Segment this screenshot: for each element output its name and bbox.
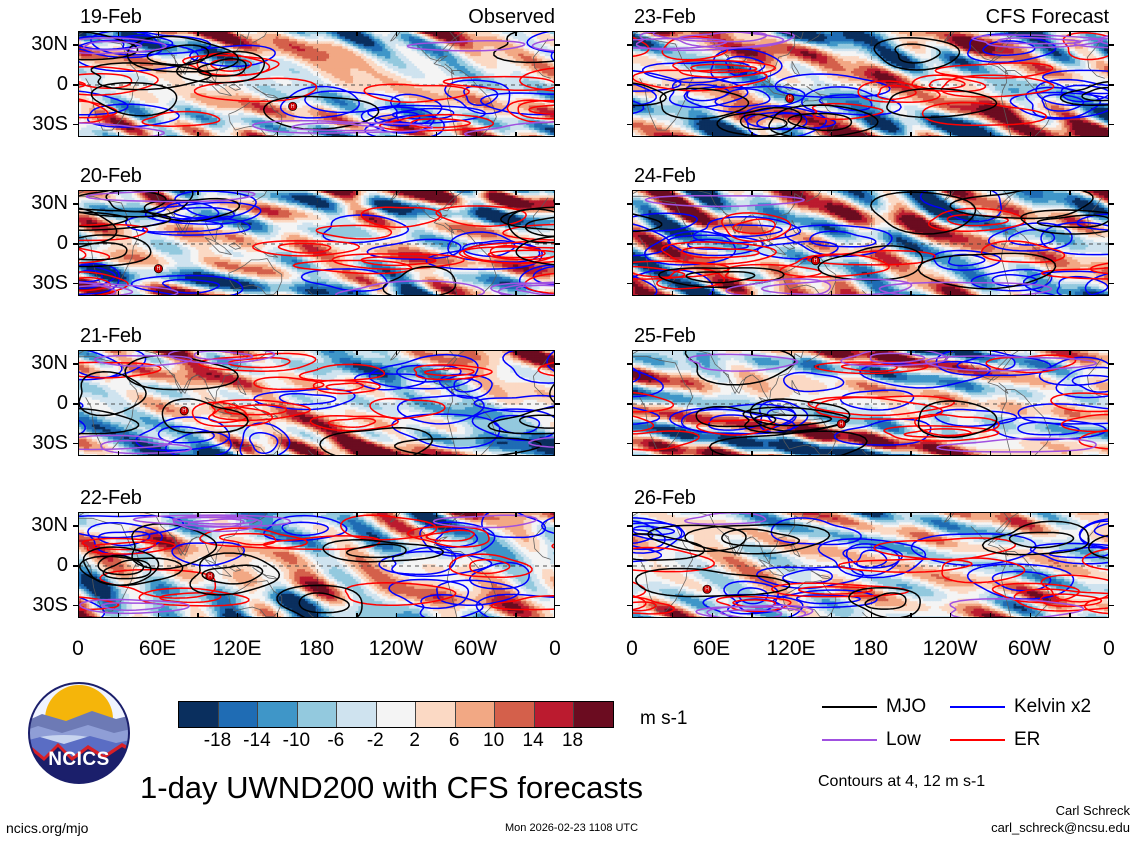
x-tick [672,613,673,618]
x-tick [871,291,872,296]
x-tick [1030,132,1031,137]
x-tick [751,451,752,456]
x-axis-label: 180 [277,638,357,659]
y-tick [627,124,633,126]
x-tick [871,512,872,517]
map-field-canvas [633,191,1109,296]
ncics-logo[interactable]: NCICS [18,681,140,785]
x-tick [515,350,516,355]
x-tick [476,613,477,618]
x-tick [476,512,477,517]
y-tick [73,605,79,607]
column-header-left: Observed [78,7,555,27]
y-axis-label: 30S [2,595,68,615]
x-tick [1069,132,1070,137]
y-tick [73,363,79,365]
y-tick [73,44,79,46]
x-tick [476,451,477,456]
x-tick [950,512,951,517]
x-axis-label: 60W [990,638,1070,659]
legend-label: Low [886,730,921,749]
map-field-canvas [79,32,555,137]
x-tick [1030,350,1031,355]
x-tick [277,451,278,456]
x-tick [791,451,792,456]
x-tick [277,613,278,618]
panel-date-label: 20-Feb [80,166,142,186]
x-tick [871,190,872,195]
x-tick [277,291,278,296]
x-tick [712,291,713,296]
x-tick [515,451,516,456]
x-tick [356,451,357,456]
x-tick [871,132,872,137]
x-axis-label: 180 [831,638,911,659]
x-tick [317,350,318,355]
x-tick [277,350,278,355]
x-tick [118,613,119,618]
x-tick [871,31,872,36]
x-tick [197,350,198,355]
x-tick [831,132,832,137]
x-tick [910,350,911,355]
x-tick [672,451,673,456]
x-tick [910,291,911,296]
map-field-canvas [79,191,555,296]
map-panel[interactable] [78,512,555,618]
y-axis-label: 30S [2,114,68,134]
x-tick [476,31,477,36]
y-tick [627,403,633,405]
x-tick [197,132,198,137]
x-tick [871,613,872,618]
column-header-right: CFS Forecast [632,7,1109,27]
x-tick [237,512,238,517]
x-tick [990,31,991,36]
colorbar-swatch [258,702,298,727]
x-tick [476,190,477,195]
x-tick [515,291,516,296]
y-tick [554,403,560,405]
legend-label: Kelvin x2 [1014,697,1091,716]
x-tick [910,451,911,456]
x-tick [791,132,792,137]
x-tick [672,350,673,355]
x-tick [751,512,752,517]
x-tick [950,613,951,618]
x-tick [712,613,713,618]
map-panel[interactable] [78,31,555,137]
x-tick [277,190,278,195]
x-tick [712,31,713,36]
y-axis-label: 0 [2,393,68,413]
panel-date-label: 24-Feb [634,166,696,186]
panel-date-label: 21-Feb [80,326,142,346]
x-tick [831,31,832,36]
x-tick [118,512,119,517]
y-tick [627,283,633,285]
y-tick [627,565,633,567]
x-tick [910,31,911,36]
x-tick [1069,190,1070,195]
y-tick [627,443,633,445]
panel-date-label: 26-Feb [634,488,696,508]
map-field-canvas [633,351,1109,456]
x-tick [831,350,832,355]
y-axis-label: 30S [2,273,68,293]
x-axis-label: 0 [515,638,595,659]
x-tick [1030,451,1031,456]
y-tick [73,565,79,567]
x-tick [672,31,673,36]
map-panel[interactable] [632,190,1109,296]
x-tick [831,512,832,517]
x-tick [1030,190,1031,195]
x-tick [672,190,673,195]
y-tick [554,525,560,527]
x-axis-label: 60E [672,638,752,659]
y-tick [554,283,560,285]
y-axis-label: 30N [2,353,68,373]
colorbar-swatches[interactable] [178,701,614,728]
map-panel[interactable] [632,350,1109,456]
y-tick [554,44,560,46]
x-tick [672,291,673,296]
y-tick [1108,403,1114,405]
x-tick [197,512,198,517]
x-tick [197,291,198,296]
x-axis-label: 60W [436,638,516,659]
x-tick [118,190,119,195]
x-axis-label: 0 [592,638,672,659]
y-axis-label: 0 [2,555,68,575]
site-link[interactable]: ncics.org/mjo [6,821,88,835]
x-tick [791,350,792,355]
y-tick [554,203,560,205]
x-tick [950,31,951,36]
x-tick [712,350,713,355]
x-tick [712,190,713,195]
x-tick [237,190,238,195]
x-axis-label: 120E [197,638,277,659]
x-tick [436,132,437,137]
colorbar-units-label: m s-1 [640,709,688,728]
x-tick [396,31,397,36]
x-tick [1069,451,1070,456]
x-tick [118,291,119,296]
x-tick [831,190,832,195]
x-tick [1030,512,1031,517]
y-tick [73,124,79,126]
x-tick [990,613,991,618]
x-tick [950,350,951,355]
y-tick [1108,124,1114,126]
x-tick [396,190,397,195]
x-tick [396,132,397,137]
x-tick [515,190,516,195]
x-tick [396,291,397,296]
x-tick [910,613,911,618]
colorbar-swatch [456,702,496,727]
x-tick [1069,291,1070,296]
y-tick [554,124,560,126]
x-tick [237,31,238,36]
x-tick [277,31,278,36]
x-tick [396,512,397,517]
x-tick [515,31,516,36]
legend-line-swatch [950,706,1005,708]
x-tick [158,190,159,195]
x-tick [396,451,397,456]
x-tick [436,613,437,618]
y-tick [73,243,79,245]
x-tick [118,132,119,137]
x-tick [1069,613,1070,618]
x-tick [237,350,238,355]
x-tick [751,291,752,296]
figure-title: 1-day UWND200 with CFS forecasts [140,772,643,803]
x-tick [317,512,318,517]
x-tick [990,190,991,195]
y-tick [627,44,633,46]
x-tick [237,291,238,296]
contour-note: Contours at 4, 12 m s-1 [818,774,985,790]
x-tick [1030,31,1031,36]
x-tick [277,132,278,137]
y-axis-label: 30N [2,515,68,535]
x-tick [791,190,792,195]
colorbar-swatch [535,702,575,727]
x-axis-label: 0 [38,638,118,659]
y-tick [554,605,560,607]
y-tick [73,203,79,205]
y-tick [554,84,560,86]
map-field-canvas [79,513,555,618]
x-tick [950,190,951,195]
map-panel[interactable] [632,31,1109,137]
x-axis-label: 0 [1069,638,1135,659]
legend-line-swatch [950,739,1005,741]
x-tick [871,451,872,456]
y-tick [627,84,633,86]
y-tick [73,525,79,527]
y-tick [73,443,79,445]
x-tick [751,190,752,195]
x-tick [950,451,951,456]
x-tick [436,31,437,36]
colorbar-swatch [179,702,219,727]
x-tick [672,512,673,517]
colorbar-tick-label: 18 [548,731,598,750]
panel-date-label: 25-Feb [634,326,696,346]
y-tick [627,605,633,607]
x-tick [1030,291,1031,296]
x-tick [950,132,951,137]
x-tick [118,31,119,36]
x-tick [712,512,713,517]
x-tick [436,291,437,296]
x-tick [396,350,397,355]
colorbar-swatch [574,702,613,727]
x-tick [1069,512,1070,517]
x-tick [712,451,713,456]
x-tick [751,350,752,355]
x-tick [356,350,357,355]
legend-line-swatch [822,739,877,741]
x-tick [1030,613,1031,618]
x-tick [950,291,951,296]
x-tick [436,512,437,517]
x-tick [158,451,159,456]
y-axis-label: 0 [2,233,68,253]
x-tick [317,31,318,36]
x-tick [118,350,119,355]
x-tick [791,613,792,618]
x-tick [476,350,477,355]
x-axis-label: 120W [356,638,436,659]
x-tick [990,132,991,137]
author-name: Carl Schreck [905,803,1130,818]
x-tick [317,132,318,137]
map-panel[interactable] [78,190,555,296]
x-tick [356,190,357,195]
y-tick [627,525,633,527]
colorbar-swatch [298,702,338,727]
x-tick [158,31,159,36]
legend-label: ER [1014,730,1040,749]
x-tick [197,451,198,456]
y-tick [1108,605,1114,607]
x-tick [158,350,159,355]
x-tick [910,190,911,195]
y-axis-label: 0 [2,74,68,94]
author-email[interactable]: carl_schreck@ncsu.edu [905,820,1130,835]
x-tick [712,132,713,137]
timestamp: Mon 2026-02-23 1108 UTC [505,823,638,834]
x-tick [237,451,238,456]
x-tick [158,291,159,296]
legend-line-swatch [822,706,877,708]
x-tick [515,613,516,618]
x-tick [791,31,792,36]
x-tick [277,512,278,517]
x-axis-label: 120W [910,638,990,659]
x-tick [990,451,991,456]
x-tick [751,613,752,618]
x-tick [476,132,477,137]
y-tick [1108,565,1114,567]
x-tick [831,291,832,296]
x-tick [515,132,516,137]
x-tick [436,451,437,456]
colorbar-swatch [337,702,377,727]
x-tick [317,291,318,296]
y-tick [554,243,560,245]
colorbar-swatch [495,702,535,727]
x-tick [791,291,792,296]
y-tick [1108,203,1114,205]
x-tick [356,291,357,296]
x-tick [1069,31,1070,36]
x-tick [751,132,752,137]
x-tick [990,512,991,517]
map-panel[interactable] [632,512,1109,618]
y-tick [554,363,560,365]
x-axis-label: 60E [118,638,198,659]
y-axis-label: 30S [2,433,68,453]
x-tick [396,613,397,618]
x-tick [831,451,832,456]
x-tick [356,31,357,36]
x-tick [197,190,198,195]
x-tick [158,613,159,618]
x-tick [158,132,159,137]
x-tick [871,350,872,355]
x-tick [990,350,991,355]
x-tick [158,512,159,517]
legend-label: MJO [886,697,926,716]
y-tick [1108,84,1114,86]
colorbar-swatch [377,702,417,727]
x-axis-label: 120E [751,638,831,659]
map-panel[interactable] [78,350,555,456]
x-tick [910,512,911,517]
x-tick [317,451,318,456]
ncics-logo-text: NCICS [18,749,140,771]
y-tick [1108,363,1114,365]
panel-date-label: 22-Feb [80,488,142,508]
y-tick [1108,443,1114,445]
x-tick [436,190,437,195]
x-tick [990,291,991,296]
x-tick [436,350,437,355]
y-tick [627,363,633,365]
x-tick [237,132,238,137]
y-tick [73,283,79,285]
map-field-canvas [633,513,1109,618]
x-tick [356,132,357,137]
x-tick [751,31,752,36]
x-tick [515,512,516,517]
y-tick [73,403,79,405]
x-tick [356,613,357,618]
map-field-canvas [79,351,555,456]
x-tick [237,613,238,618]
map-field-canvas [633,32,1109,137]
x-tick [356,512,357,517]
y-axis-label: 30N [2,193,68,213]
colorbar-swatch [219,702,259,727]
x-tick [197,613,198,618]
y-tick [627,243,633,245]
x-tick [831,613,832,618]
y-tick [1108,283,1114,285]
x-tick [317,613,318,618]
y-tick [554,565,560,567]
y-tick [1108,525,1114,527]
y-tick [1108,44,1114,46]
y-tick [73,84,79,86]
y-tick [627,203,633,205]
y-tick [1108,243,1114,245]
x-tick [118,451,119,456]
x-tick [672,132,673,137]
colorbar-swatch [416,702,456,727]
x-tick [910,132,911,137]
x-tick [476,291,477,296]
x-tick [791,512,792,517]
x-tick [317,190,318,195]
